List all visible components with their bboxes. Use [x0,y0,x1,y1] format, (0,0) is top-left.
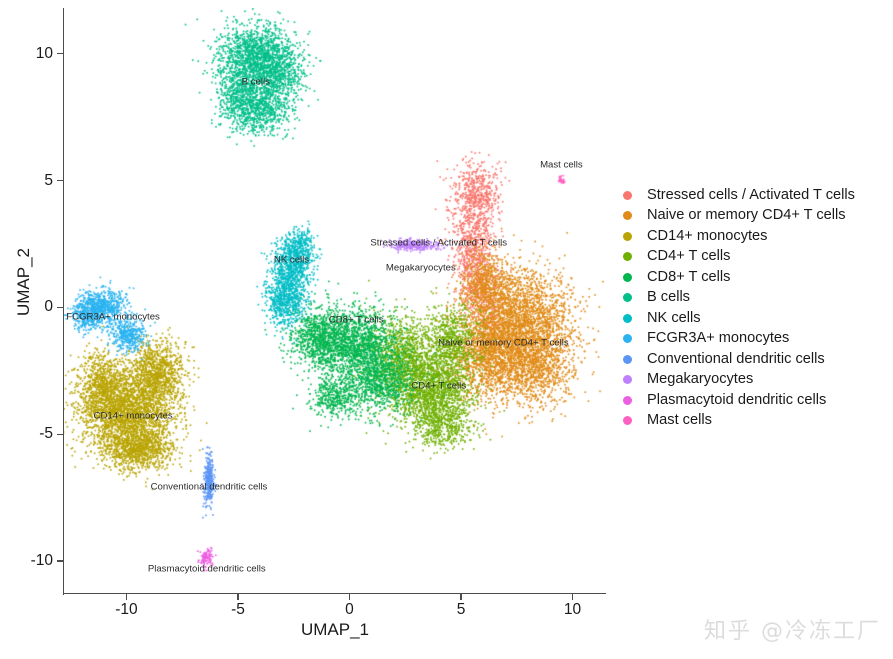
legend-swatch-dot-icon [623,211,632,220]
legend-item[interactable]: Mast cells [618,411,890,432]
legend-swatch-dot-icon [623,252,632,261]
x-tick-mark [572,594,573,600]
legend-item[interactable]: NK cells [618,308,890,329]
x-tick-label: -5 [208,601,268,619]
legend-item-label: NK cells [647,311,701,326]
x-tick-label: 5 [431,601,491,619]
legend-swatch-dot-icon [623,396,632,405]
x-tick-label: 0 [319,601,379,619]
legend-item-label: CD14+ monocytes [647,229,767,244]
legend-swatch-dot-icon [623,293,632,302]
legend-item[interactable]: CD4+ T cells [618,247,890,268]
legend-item-label: Plasmacytoid dendritic cells [647,393,826,408]
watermark: 知乎 @冷冻工厂 [704,613,881,645]
legend-item[interactable]: CD14+ monocytes [618,226,890,247]
x-axis-line [63,593,606,594]
legend-item-label: B cells [647,290,690,305]
legend-swatch-dot-icon [623,355,632,364]
legend-item-label: Stressed cells / Activated T cells [647,188,855,203]
legend-item[interactable]: Naive or memory CD4+ T cells [618,206,890,227]
legend-item[interactable]: Stressed cells / Activated T cells [618,185,890,206]
y-tick-label: 10 [0,45,53,63]
y-axis-line [63,8,64,595]
legend-item[interactable]: B cells [618,288,890,309]
legend-swatch-dot-icon [623,273,632,282]
y-tick-label: -5 [0,425,53,443]
legend-swatch-dot-icon [623,416,632,425]
legend-swatch-dot-icon [623,375,632,384]
legend-item-label: CD8+ T cells [647,270,730,285]
x-tick-label: 10 [543,601,603,619]
x-tick-mark [349,594,350,600]
plot-panel: B cellsMast cellsStressed cells / Activa… [64,8,606,594]
legend-item-label: Naive or memory CD4+ T cells [647,208,846,223]
legend-item-label: Mast cells [647,413,712,428]
legend-item[interactable]: Megakaryocytes [618,370,890,391]
x-tick-label: -10 [96,601,156,619]
y-tick-mark [57,180,63,181]
y-tick-mark [57,53,63,54]
x-tick-mark [126,594,127,600]
legend-item[interactable]: CD8+ T cells [618,267,890,288]
y-axis-title: UMAP_2 [14,162,34,402]
legend-item-label: CD4+ T cells [647,249,730,264]
y-tick-label: -10 [0,552,53,570]
scatter-plot-canvas [64,8,606,594]
legend-item[interactable]: Plasmacytoid dendritic cells [618,390,890,411]
legend-item[interactable]: Conventional dendritic cells [618,349,890,370]
legend: Stressed cells / Activated T cellsNaive … [618,185,890,431]
legend-item[interactable]: FCGR3A+ monocytes [618,329,890,350]
legend-item-label: Megakaryocytes [647,372,753,387]
legend-swatch-dot-icon [623,314,632,323]
umap-figure: B cellsMast cellsStressed cells / Activa… [0,0,893,659]
legend-swatch-dot-icon [623,334,632,343]
legend-item-label: FCGR3A+ monocytes [647,331,789,346]
x-tick-mark [460,594,461,600]
y-tick-mark [57,434,63,435]
legend-swatch-dot-icon [623,232,632,241]
y-tick-mark [57,307,63,308]
x-axis-title: UMAP_1 [64,620,606,640]
x-tick-mark [237,594,238,600]
legend-item-label: Conventional dendritic cells [647,352,825,367]
y-tick-mark [57,560,63,561]
legend-swatch-dot-icon [623,191,632,200]
